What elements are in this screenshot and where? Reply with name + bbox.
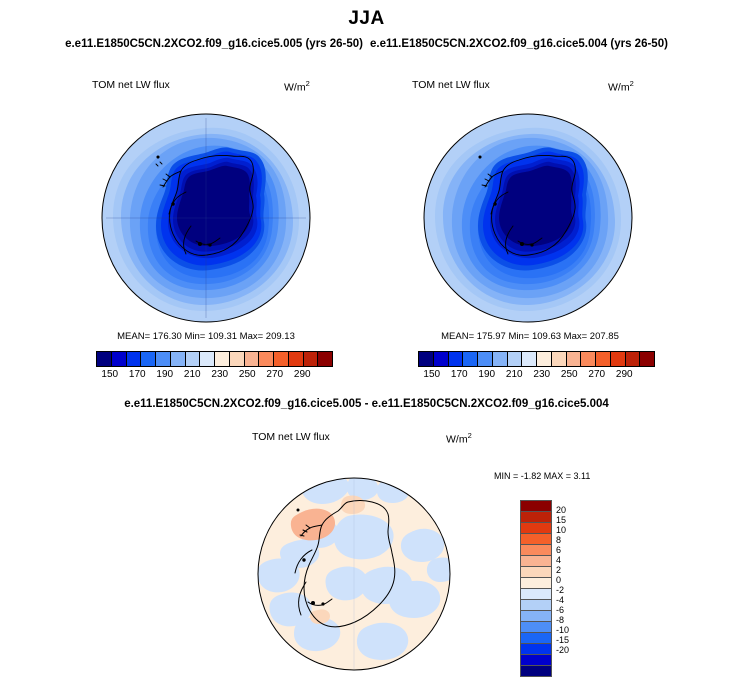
colorbar-cell — [625, 352, 640, 366]
left-colorbar — [96, 351, 333, 367]
diff-units-exponent: 2 — [468, 431, 472, 440]
colorbar-cell — [303, 352, 318, 366]
colorbar-cell — [521, 352, 536, 366]
colorbar-cell — [551, 352, 566, 366]
right-colorbar-labels: 150170190210230250270290 — [418, 369, 638, 383]
diff-colorbar-tick-label: 10 — [556, 525, 566, 535]
colorbar-tick-label: 290 — [294, 369, 311, 380]
right-units-exponent: 2 — [630, 79, 634, 88]
diff-colorbar-cell — [521, 621, 551, 632]
left-variable-label: TOM net LW flux — [92, 79, 170, 91]
right-variable-label: TOM net LW flux — [412, 79, 490, 91]
left-map-svg — [96, 108, 316, 328]
left-colorbar-labels: 150170190210230250270290 — [96, 369, 316, 383]
colorbar-tick-label: 210 — [184, 369, 201, 380]
colorbar-cell — [273, 352, 288, 366]
colorbar-tick-label: 190 — [478, 369, 495, 380]
colorbar-cell — [536, 352, 551, 366]
diff-colorbar-tick-label: -20 — [556, 645, 569, 655]
left-case-name: e.e11.E1850C5CN.2XCO2.f09_g16.cice5.005 … — [65, 38, 363, 50]
colorbar-tick-label: 170 — [451, 369, 468, 380]
colorbar-tick-label: 270 — [266, 369, 283, 380]
right-colorbar — [418, 351, 655, 367]
diff-colorbar-tick-label: -2 — [556, 585, 564, 595]
difference-map-svg — [252, 472, 456, 676]
colorbar-cell — [244, 352, 259, 366]
colorbar-cell — [595, 352, 610, 366]
right-polar-map — [418, 108, 638, 328]
diff-colorbar-cell — [521, 610, 551, 621]
colorbar-tick-label: 150 — [423, 369, 440, 380]
colorbar-tick-label: 270 — [588, 369, 605, 380]
diff-colorbar-cell — [521, 555, 551, 566]
colorbar-cell — [111, 352, 126, 366]
right-case-name: e.e11.E1850C5CN.2XCO2.f09_g16.cice5.004 … — [370, 38, 668, 50]
colorbar-cell — [317, 352, 332, 366]
diff-colorbar-cell — [521, 511, 551, 522]
colorbar-cell — [507, 352, 522, 366]
colorbar-cell — [419, 352, 433, 366]
diff-colorbar-tick-label: -6 — [556, 605, 564, 615]
colorbar-tick-label: 210 — [506, 369, 523, 380]
colorbar-cell — [155, 352, 170, 366]
diff-colorbar-cell — [521, 577, 551, 588]
colorbar-cell — [126, 352, 141, 366]
colorbar-cell — [610, 352, 625, 366]
diff-colorbar-cell — [521, 665, 551, 676]
colorbar-cell — [185, 352, 200, 366]
left-polar-map — [96, 108, 316, 328]
colorbar-tick-label: 250 — [561, 369, 578, 380]
diff-colorbar-tick-label: 15 — [556, 515, 566, 525]
colorbar-cell — [140, 352, 155, 366]
difference-colorbar — [520, 500, 552, 677]
colorbar-cell — [639, 352, 654, 366]
colorbar-cell — [580, 352, 595, 366]
colorbar-tick-label: 230 — [211, 369, 228, 380]
colorbar-cell — [566, 352, 581, 366]
diff-colorbar-cell — [521, 566, 551, 577]
colorbar-tick-label: 250 — [239, 369, 256, 380]
colorbar-cell — [214, 352, 229, 366]
diff-minmax-label: MIN = -1.82 MAX = 3.11 — [494, 471, 590, 481]
left-units-exponent: 2 — [306, 79, 310, 88]
difference-polar-map — [252, 472, 456, 676]
diff-colorbar-cell — [521, 533, 551, 544]
right-units-main: W/m — [608, 82, 630, 94]
diff-colorbar-cell — [521, 544, 551, 555]
diff-colorbar-cell — [521, 654, 551, 665]
page-title: JJA — [0, 8, 733, 30]
colorbar-cell — [288, 352, 303, 366]
diff-colorbar-cell — [521, 501, 551, 511]
left-stats: MEAN= 176.30 Min= 109.31 Max= 209.13 — [66, 331, 346, 342]
colorbar-cell — [199, 352, 214, 366]
colorbar-cell — [492, 352, 507, 366]
colorbar-tick-label: 290 — [616, 369, 633, 380]
left-units-label: W/m2 — [284, 79, 310, 94]
left-units-main: W/m — [284, 82, 306, 94]
colorbar-tick-label: 150 — [101, 369, 118, 380]
diff-colorbar-tick-label: 0 — [556, 575, 561, 585]
diff-colorbar-tick-label: -15 — [556, 635, 569, 645]
diff-units-main: W/m — [446, 434, 468, 446]
colorbar-tick-label: 230 — [533, 369, 550, 380]
colorbar-cell — [448, 352, 463, 366]
diff-colorbar-tick-label: 8 — [556, 535, 561, 545]
diff-variable-label: TOM net LW flux — [252, 431, 330, 443]
diff-units-label: W/m2 — [446, 431, 472, 446]
diff-colorbar-cell — [521, 632, 551, 643]
difference-title: e.e11.E1850C5CN.2XCO2.f09_g16.cice5.005 … — [0, 398, 733, 410]
colorbar-cell — [462, 352, 477, 366]
colorbar-cell — [433, 352, 448, 366]
diff-colorbar-cell — [521, 599, 551, 610]
right-units-label: W/m2 — [608, 79, 634, 94]
colorbar-cell — [97, 352, 111, 366]
colorbar-cell — [477, 352, 492, 366]
diff-colorbar-tick-label: 6 — [556, 545, 561, 555]
diff-colorbar-tick-label: 20 — [556, 505, 566, 515]
colorbar-tick-label: 170 — [129, 369, 146, 380]
right-stats: MEAN= 175.97 Min= 109.63 Max= 207.85 — [390, 331, 670, 342]
colorbar-cell — [258, 352, 273, 366]
colorbar-cell — [170, 352, 185, 366]
diff-colorbar-cell — [521, 643, 551, 654]
diff-colorbar-cell — [521, 522, 551, 533]
diff-colorbar-cell — [521, 588, 551, 599]
diff-colorbar-tick-label: -4 — [556, 595, 564, 605]
diff-colorbar-tick-label: 4 — [556, 555, 561, 565]
diff-colorbar-tick-label: -10 — [556, 625, 569, 635]
case-subtitle: e.e11.E1850C5CN.2XCO2.f09_g16.cice5.005 … — [0, 38, 733, 50]
diff-colorbar-tick-label: 2 — [556, 565, 561, 575]
diff-colorbar-tick-label: -8 — [556, 615, 564, 625]
colorbar-tick-label: 190 — [156, 369, 173, 380]
colorbar-cell — [229, 352, 244, 366]
right-map-svg — [418, 108, 638, 328]
